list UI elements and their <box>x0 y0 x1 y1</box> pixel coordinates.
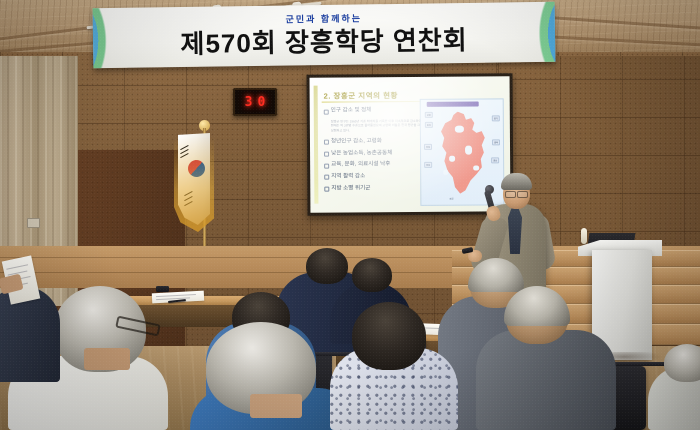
banner-title: 제570회 장흥학당 연찬회 <box>93 19 555 62</box>
slide-bullet: 교육, 문화, 의료시설 낙후 <box>324 161 420 168</box>
map-region-label: 전북 <box>424 144 432 150</box>
slide-bullet: 인구 감소 및 정체 <box>324 107 420 114</box>
speaker-glasses <box>517 191 528 198</box>
audience-hair <box>352 302 426 370</box>
map-region-label: 경기 <box>492 115 500 121</box>
slide-bullet-list: 인구 감소 및 정체 장흥군 인구는 1965년 기준 최대치를 기록한 이후 … <box>324 107 421 197</box>
slide-bullet: 지방 소멸 위기군 <box>324 184 420 191</box>
lecture-hall-photo: 군민과 함께하는 제570회 장흥학당 연찬회 3 0 2. 장흥군 지역의 현… <box>0 0 700 430</box>
podium-microphone <box>581 228 587 244</box>
map-unshaded-area <box>465 146 472 155</box>
map-region-label: 전남 <box>424 162 432 168</box>
audience-hair <box>352 258 392 292</box>
event-banner: 군민과 함께하는 제570회 장흥학당 연찬회 <box>93 2 556 68</box>
mobile-phone <box>156 286 169 292</box>
slide-subtext: 장흥군 인구는 1965년 기준 최대치를 기록한 이후 지속적으로 감소하여 … <box>331 119 423 134</box>
map-region-label: 경남 <box>491 157 499 163</box>
slide-bullet: 낮은 농업소득, 농촌공동체 <box>324 150 420 157</box>
slide-bullet: 청년인구 감소, 고령화 <box>324 138 420 145</box>
presentation-slide: 2. 장흥군 지역의 현황 인구 감소 및 정체 장흥군 인구는 1965년 기… <box>310 76 511 212</box>
projection-screen: 2. 장흥군 지역의 현황 인구 감소 및 정체 장흥군 인구는 1965년 기… <box>307 73 514 215</box>
timer-digit-units: 0 <box>258 96 266 109</box>
audience-hair <box>664 344 700 382</box>
led-timer: 3 0 <box>233 88 277 116</box>
map-region-label: 제주 <box>449 197 453 201</box>
map-caption-bar <box>427 102 479 107</box>
map-region-label: 강원 <box>425 112 433 118</box>
speaker-hair <box>501 173 532 190</box>
wall-outlet <box>27 218 40 228</box>
timer-digit-tens: 3 <box>245 96 253 109</box>
map-region-label: 경북 <box>492 139 500 145</box>
map-region-label: 충북 <box>425 122 433 128</box>
flag-fringe <box>174 136 214 232</box>
slide-title: 2. 장흥군 지역의 현황 <box>324 90 398 102</box>
audience-hair <box>306 248 348 284</box>
audience-neck <box>250 394 302 418</box>
map-unshaded-area <box>473 166 479 171</box>
paper-line <box>6 264 28 269</box>
audience-neck <box>84 348 130 370</box>
map-unshaded-area <box>449 156 455 162</box>
map-unshaded-area <box>455 126 464 133</box>
speaker-glasses <box>505 191 516 198</box>
slide-bullet: 지역 활력 감소 <box>324 173 420 180</box>
audience-torso <box>476 330 616 430</box>
korea-landmass <box>437 111 490 193</box>
slide-accent-bar <box>314 86 319 204</box>
map-unshaded-area <box>443 170 448 175</box>
